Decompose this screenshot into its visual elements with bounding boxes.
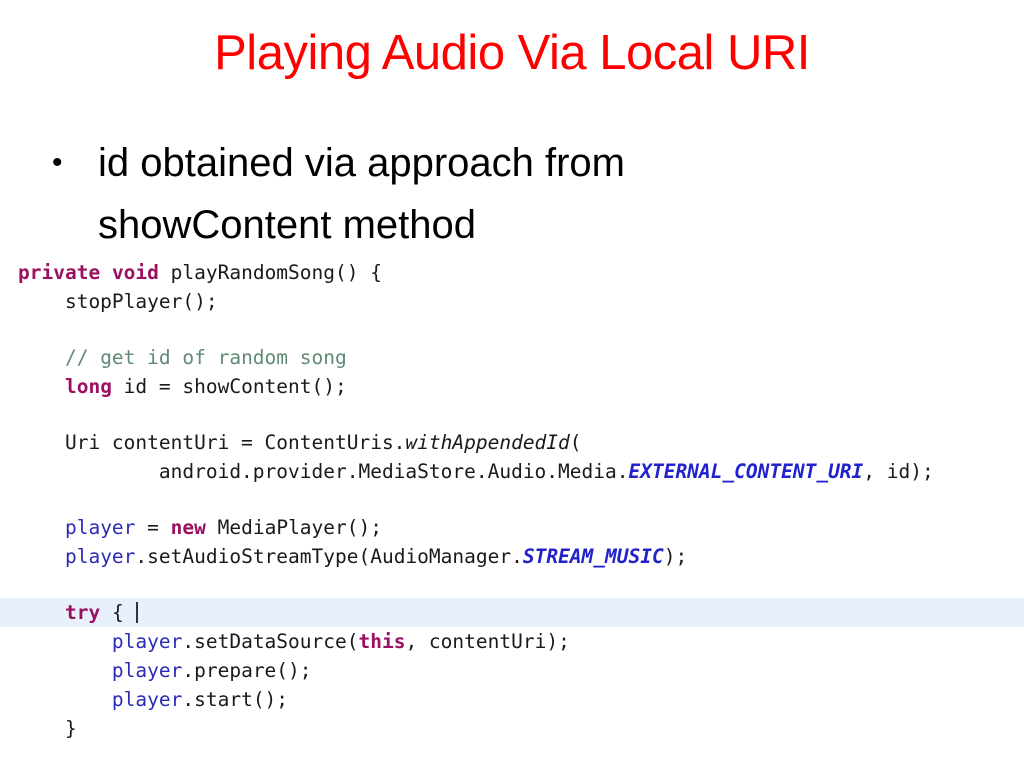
code-token-plain: .prepare();: [182, 659, 311, 682]
code-token-plain: .setAudioStreamType(AudioManager.: [135, 545, 522, 568]
code-token-plain: [18, 516, 65, 539]
code-line[interactable]: stopPlayer();: [0, 287, 1024, 316]
page-title: Playing Audio Via Local URI: [0, 28, 1024, 79]
bullet-list: • id obtained via approach from showCont…: [52, 132, 832, 256]
code-token-plain: playRandomSong() {: [159, 261, 382, 284]
code-token-plain: [18, 601, 65, 624]
code-line[interactable]: [0, 486, 1024, 513]
code-token-plain: [18, 346, 65, 369]
code-token-plain: android.provider.MediaStore.Audio.Media.: [18, 460, 628, 483]
code-line[interactable]: long id = showContent();: [0, 372, 1024, 401]
code-token-plain: );: [664, 545, 687, 568]
code-token-plain: Uri contentUri = ContentUris.: [18, 431, 405, 454]
code-token-field: player: [112, 659, 182, 682]
code-line-active[interactable]: try {: [0, 598, 1024, 627]
code-line[interactable]: private void playRandomSong() {: [0, 258, 1024, 287]
code-token-constant: STREAM_MUSIC: [523, 545, 664, 568]
code-token-plain: stopPlayer();: [18, 290, 218, 313]
code-token-plain: .start();: [182, 688, 288, 711]
code-token-plain: .setDataSource(: [182, 630, 358, 653]
code-token-plain: , id);: [863, 460, 933, 483]
code-token-field: player: [65, 545, 135, 568]
code-line[interactable]: android.provider.MediaStore.Audio.Media.…: [0, 457, 1024, 486]
code-line[interactable]: player.setDataSource(this, contentUri);: [0, 627, 1024, 656]
code-token-italic: withAppendedId: [405, 431, 569, 454]
code-token-keyword: private: [18, 261, 100, 284]
code-line[interactable]: player.prepare();: [0, 656, 1024, 685]
code-token-plain: [100, 261, 112, 284]
code-token-plain: [18, 659, 112, 682]
code-token-plain: id = showContent();: [112, 375, 347, 398]
code-token-comment: // get id of random song: [65, 346, 347, 369]
code-line[interactable]: player.setAudioStreamType(AudioManager.S…: [0, 542, 1024, 571]
code-line[interactable]: [0, 316, 1024, 343]
code-line[interactable]: // get id of random song: [0, 343, 1024, 372]
bullet-text: id obtained via approach from showConten…: [98, 132, 738, 256]
code-token-keyword: try: [65, 601, 100, 624]
code-token-plain: MediaPlayer();: [206, 516, 382, 539]
code-token-plain: (: [570, 431, 582, 454]
code-token-keyword: new: [171, 516, 206, 539]
code-token-keyword: void: [112, 261, 159, 284]
code-token-plain: =: [135, 516, 170, 539]
code-token-field: player: [112, 630, 182, 653]
code-line[interactable]: [0, 401, 1024, 428]
code-line[interactable]: player.start();: [0, 685, 1024, 714]
bullet-marker-icon: •: [52, 132, 98, 194]
code-token-plain: {: [100, 601, 135, 624]
list-item: • id obtained via approach from showCont…: [52, 132, 832, 256]
code-block[interactable]: private void playRandomSong() { stopPlay…: [0, 258, 1024, 743]
code-token-plain: }: [18, 717, 77, 740]
code-token-plain: , contentUri);: [405, 630, 569, 653]
code-token-plain: [18, 688, 112, 711]
code-token-plain: [18, 545, 65, 568]
code-token-field: player: [112, 688, 182, 711]
code-line[interactable]: Uri contentUri = ContentUris.withAppende…: [0, 428, 1024, 457]
code-line[interactable]: }: [0, 714, 1024, 743]
code-line[interactable]: player = new MediaPlayer();: [0, 513, 1024, 542]
code-token-keyword: this: [358, 630, 405, 653]
code-token-keyword: long: [65, 375, 112, 398]
text-caret: [136, 602, 138, 623]
code-token-field: player: [65, 516, 135, 539]
code-token-plain: [18, 630, 112, 653]
code-token-constant: EXTERNAL_CONTENT_URI: [628, 460, 863, 483]
code-token-plain: [18, 375, 65, 398]
code-line[interactable]: [0, 571, 1024, 598]
